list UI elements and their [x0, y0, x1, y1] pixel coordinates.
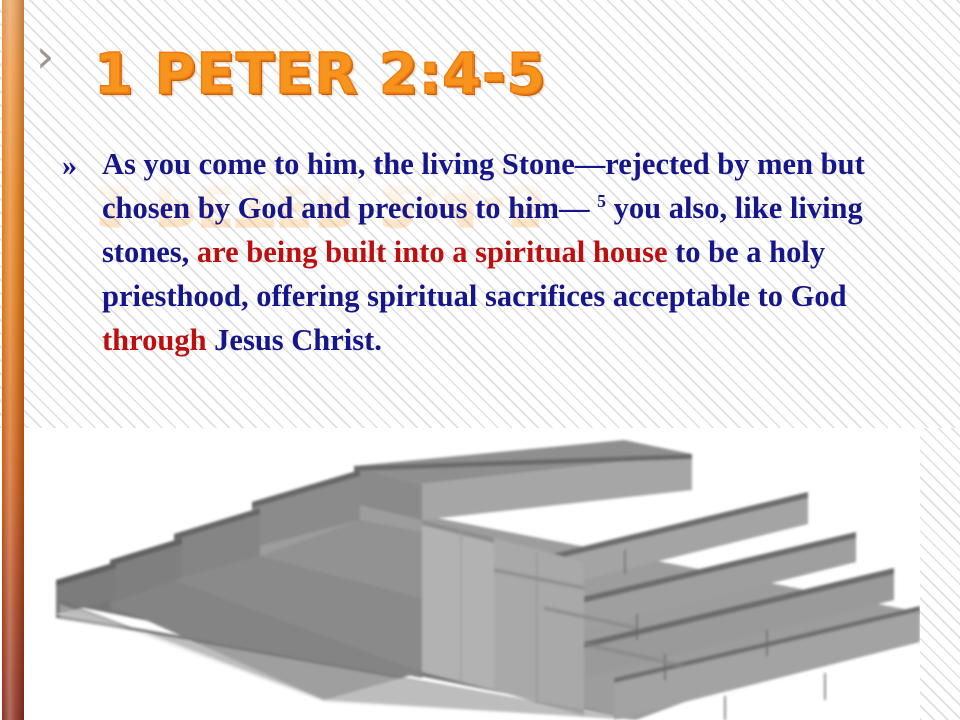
verse-body-block: » As you come to him, the living Stone—r… [62, 142, 922, 362]
verse-highlight-segment: through [102, 323, 207, 357]
slide-background-texture-right [920, 428, 960, 720]
title-wrapper: 1 PETER 2:4-5 1 PETER 2:4-5 [94, 18, 914, 138]
verse-bullet-icon: » [62, 144, 96, 188]
title-row: › 1 PETER 2:4-5 1 PETER 2:4-5 [36, 18, 916, 138]
verse-number: 5 [597, 191, 606, 211]
verse-text: As you come to him, the living Stone—rej… [102, 142, 914, 362]
left-orange-accent-bar [2, 0, 24, 720]
verse-segment: Jesus Christ. [207, 323, 382, 357]
image-panel [24, 428, 920, 720]
chevron-right-icon: › [36, 30, 70, 82]
presentation-slide: › 1 PETER 2:4-5 1 PETER 2:4-5 » As you c… [0, 0, 960, 720]
page-title: 1 PETER 2:4-5 [94, 42, 546, 107]
stone-steps-illustration [24, 428, 920, 720]
verse-highlight-segment: are being built into a spiritual house [197, 235, 668, 269]
